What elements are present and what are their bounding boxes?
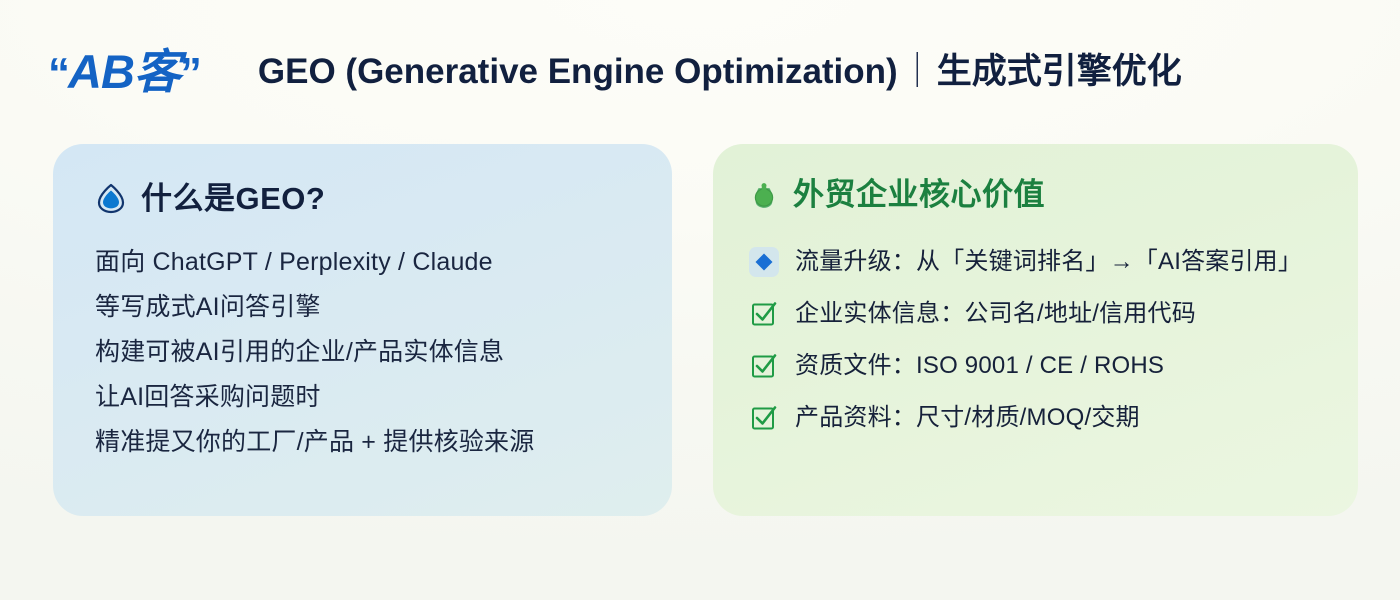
card-left-line: 构建可被AI引用的企业/产品实体信息 xyxy=(95,330,630,375)
brand-logo: “AB客” xyxy=(48,48,200,96)
list-item: 流量升级：从「关键词排名」→「AI答案引用」 xyxy=(749,236,1322,288)
list-item-label: 资质文件：ISO 9001 / CE / ROHS xyxy=(795,354,1164,378)
card-header-right: 外贸企业核心价值 xyxy=(749,178,1322,210)
card-left-title: 什么是GEO? xyxy=(141,183,325,214)
card-left-line: 等写成式AI问答引擎 xyxy=(95,285,630,330)
page-title-cn: 生成式引擎优化 xyxy=(937,52,1182,91)
card-left-line: 让AI回答采购问题时 xyxy=(95,375,630,420)
list-item-label: 流量升级：从「关键词排名」→「AI答案引用」 xyxy=(795,250,1302,274)
green-checkbox-icon xyxy=(749,403,779,433)
list-item: 资质文件：ISO 9001 / CE / ROHS xyxy=(749,340,1322,392)
page-title: GEO (Generative Engine Optimization)｜生成式… xyxy=(258,54,1182,89)
card-left-line: 精准提又你的工厂/产品 + 提供核验来源 xyxy=(95,420,630,465)
card-left-body: 面向 ChatGPT / Perplexity / Claude 等写成式AI问… xyxy=(95,240,630,465)
page-title-main: GEO (Generative Engine Optimization) xyxy=(258,52,898,91)
page-title-separator: ｜ xyxy=(898,52,937,91)
list-item: 企业实体信息：公司名/地址/信用代码 xyxy=(749,288,1322,340)
brand-open-quote: “ xyxy=(48,49,68,98)
page-header: “AB客” GEO (Generative Engine Optimizatio… xyxy=(0,0,1400,140)
brand-name: AB客 xyxy=(68,45,180,98)
card-left-line: 面向 ChatGPT / Perplexity / Claude xyxy=(95,240,630,285)
card-header-left: 什么是GEO? xyxy=(95,182,630,214)
green-gem-icon xyxy=(749,178,779,210)
water-drop-icon xyxy=(95,182,127,214)
brand-close-quote: ” xyxy=(180,49,200,98)
list-item-label: 产品资料：尺寸/材质/MOQ/交期 xyxy=(795,406,1140,430)
blue-diamond-icon xyxy=(749,247,779,277)
card-core-value: 外贸企业核心价值 流量升级：从「关键词排名」→「AI答案引用」 xyxy=(713,144,1358,516)
green-checkbox-icon xyxy=(749,351,779,381)
list-item-label: 企业实体信息：公司名/地址/信用代码 xyxy=(795,302,1196,326)
card-right-body: 流量升级：从「关键词排名」→「AI答案引用」 企业实体信息：公司名/地址/信用代… xyxy=(749,236,1322,444)
card-right-title: 外贸企业核心价值 xyxy=(793,179,1045,210)
card-what-is-geo: 什么是GEO? 面向 ChatGPT / Perplexity / Claude… xyxy=(53,144,672,516)
cards-container: 什么是GEO? 面向 ChatGPT / Perplexity / Claude… xyxy=(53,144,1358,516)
list-item: 产品资料：尺寸/材质/MOQ/交期 xyxy=(749,392,1322,444)
green-checkbox-icon xyxy=(749,299,779,329)
